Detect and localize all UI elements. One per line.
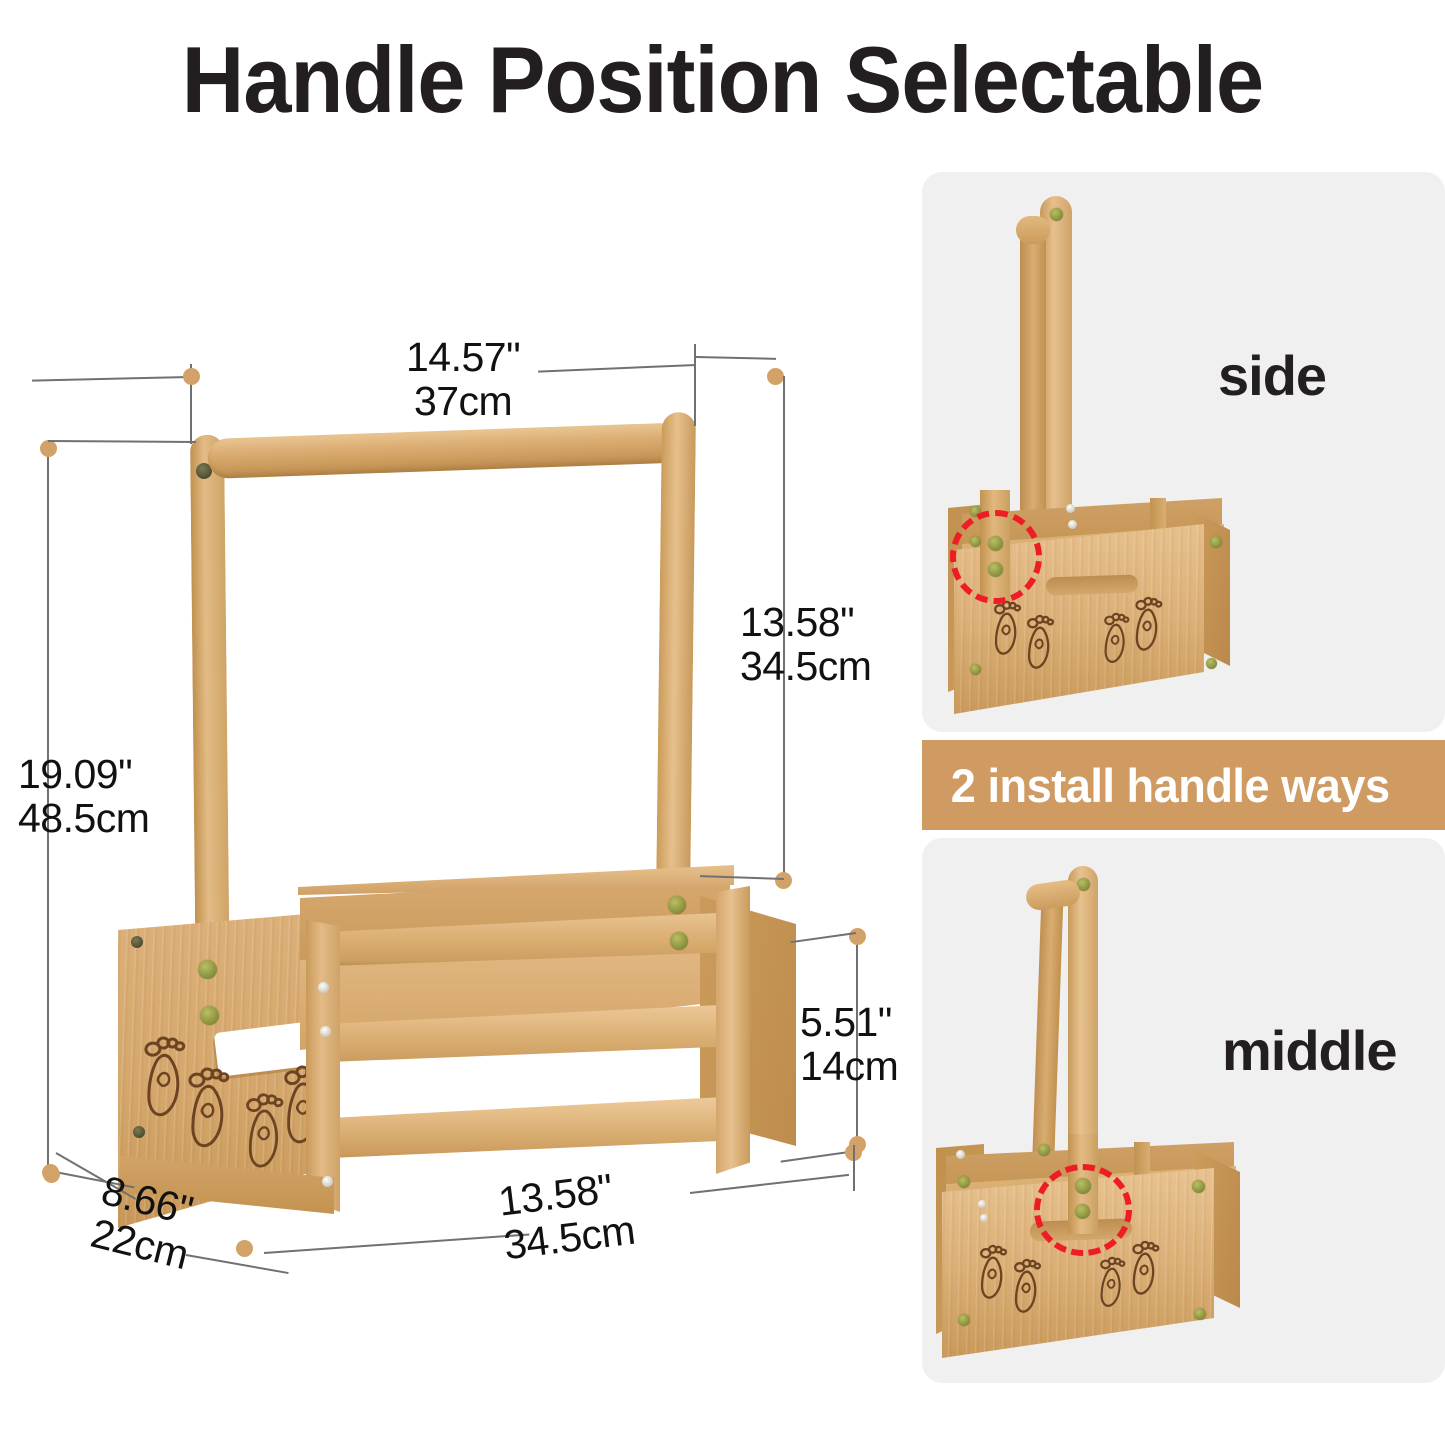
dim-width-line-left	[264, 1233, 529, 1254]
side-product-image	[922, 172, 1445, 732]
crate-front-slat-bottom	[330, 1096, 742, 1158]
dim-handle-width-inch: 14.57"	[406, 334, 520, 380]
dim-dot	[236, 1240, 253, 1257]
screw-icon	[133, 1126, 145, 1138]
footprint-icon	[990, 599, 1024, 659]
screw-icon	[131, 936, 143, 948]
dim-crate-h-leader-top	[791, 932, 857, 943]
nail-icon	[1066, 504, 1075, 513]
panel-handle-middle: middle	[922, 838, 1445, 1383]
dim-handle-width-cm: 37cm	[406, 379, 520, 423]
dim-top-leader-right2	[696, 356, 776, 360]
panel-handle-side: side	[922, 172, 1445, 732]
dim-dot	[43, 1166, 60, 1183]
red-dashed-circle-icon	[1034, 1164, 1132, 1256]
dim-dot	[849, 928, 866, 945]
screw-icon	[970, 664, 981, 675]
dim-depth-line2	[186, 1254, 289, 1274]
nail-icon	[980, 1214, 988, 1222]
dim-handle-height-cm: 34.5cm	[740, 644, 871, 688]
nail-icon	[318, 982, 329, 993]
install-ways-banner: 2 install handle ways	[922, 740, 1445, 830]
dim-dot	[40, 440, 57, 457]
dim-left-leader-top	[48, 440, 196, 443]
dim-top-leader-right	[538, 364, 696, 373]
screw-icon	[668, 896, 686, 914]
footprint-icon	[976, 1243, 1010, 1303]
screw-icon	[958, 1176, 970, 1188]
dim-label-total-height: 19.09" 48.5cm	[18, 752, 149, 841]
page-title: Handle Position Selectable	[58, 26, 1387, 134]
dim-label-handle-width: 14.57" 37cm	[406, 335, 520, 424]
screw-icon	[670, 932, 688, 950]
dim-dot	[183, 368, 200, 385]
middle-product-image	[922, 838, 1445, 1383]
dim-total-height-inch: 19.09"	[18, 751, 132, 797]
side-crate-hand-slot	[1046, 574, 1139, 595]
footprint-icon	[1101, 611, 1132, 666]
dim-label-crate-height: 5.51" 14cm	[800, 1000, 898, 1089]
footprint-icon	[1010, 1257, 1044, 1317]
screw-icon	[1192, 1180, 1205, 1193]
handle-right-upright	[656, 412, 696, 906]
nail-icon	[322, 1176, 333, 1187]
screw-icon	[1050, 208, 1063, 221]
footprint-icon	[1097, 1255, 1128, 1310]
dim-crate-height-cm: 14cm	[800, 1044, 898, 1088]
crate-front-right-stile	[716, 886, 750, 1174]
dim-total-height-cm: 48.5cm	[18, 796, 149, 840]
dim-width-line-right	[690, 1174, 849, 1194]
nail-icon	[956, 1150, 965, 1159]
screw-icon	[1038, 1144, 1050, 1156]
install-ways-banner-text: 2 install handle ways	[922, 758, 1390, 813]
crate-front-left-stile	[306, 920, 340, 1212]
screw-icon	[1210, 536, 1222, 548]
dim-crate-height-inch: 5.51"	[800, 999, 892, 1045]
panel-label-middle: middle	[1222, 1018, 1396, 1083]
screw-icon	[958, 1314, 970, 1326]
dim-width-ext-right	[853, 1145, 855, 1191]
nail-icon	[320, 1026, 331, 1037]
footprint-icon	[1129, 1239, 1162, 1298]
screw-icon	[1206, 658, 1217, 669]
nail-icon	[978, 1200, 986, 1208]
dim-label-handle-height: 13.58" 34.5cm	[740, 600, 871, 689]
panel-label-side: side	[1218, 343, 1326, 408]
nail-icon	[1068, 520, 1077, 529]
dim-dot	[775, 872, 792, 889]
screw-icon	[1194, 1308, 1206, 1320]
dim-label-crate-width: 13.58" 34.5cm	[496, 1164, 637, 1268]
footprint-icon	[1132, 595, 1165, 654]
main-product-illustration: 14.57" 37cm 13.58" 34.5cm 19.09" 48.5cm …	[0, 300, 920, 1310]
dim-handle-height-inch: 13.58"	[740, 599, 854, 645]
dim-top-leader-left	[32, 376, 190, 382]
side-handle-dowel	[1016, 216, 1050, 244]
screw-icon	[198, 960, 217, 979]
red-dashed-circle-icon	[950, 510, 1042, 604]
footprint-icon	[182, 1064, 237, 1154]
dim-dot	[767, 368, 784, 385]
handle-top-bar	[207, 423, 680, 479]
side-handle-post-rear	[1020, 216, 1046, 546]
screw-icon	[200, 1006, 219, 1025]
footprint-icon	[1023, 613, 1057, 673]
